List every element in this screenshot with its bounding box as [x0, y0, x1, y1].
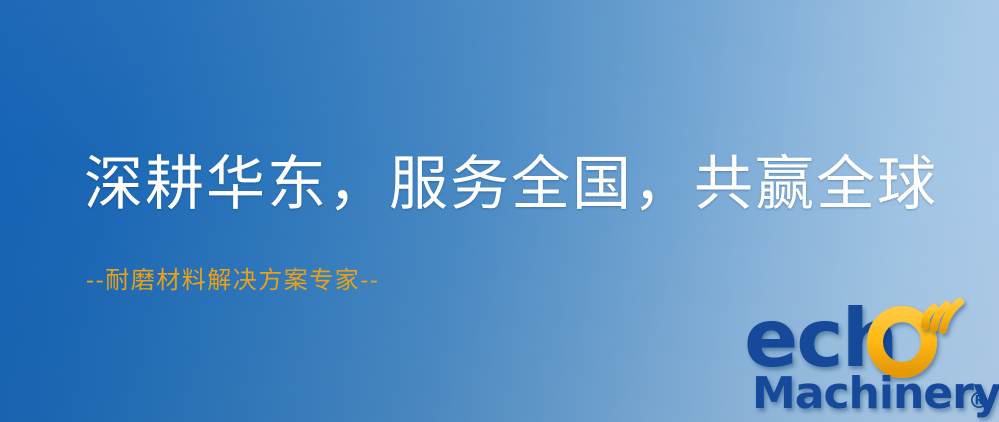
banner-subtitle: --耐磨材料解决方案专家-- [86, 266, 379, 295]
banner-headline: 深耕华东，服务全国，共赢全球 [84, 152, 938, 216]
logo-brand-secondary: Machinery [752, 368, 999, 419]
logo-machinery-text: Machinery ® [752, 368, 999, 419]
echo-machinery-logo[interactable]: ech Machinery ® [744, 296, 999, 422]
logo-registered-mark: ® [968, 389, 990, 414]
hero-banner: 深耕华东，服务全国，共赢全球 --耐磨材料解决方案专家-- [0, 0, 999, 422]
